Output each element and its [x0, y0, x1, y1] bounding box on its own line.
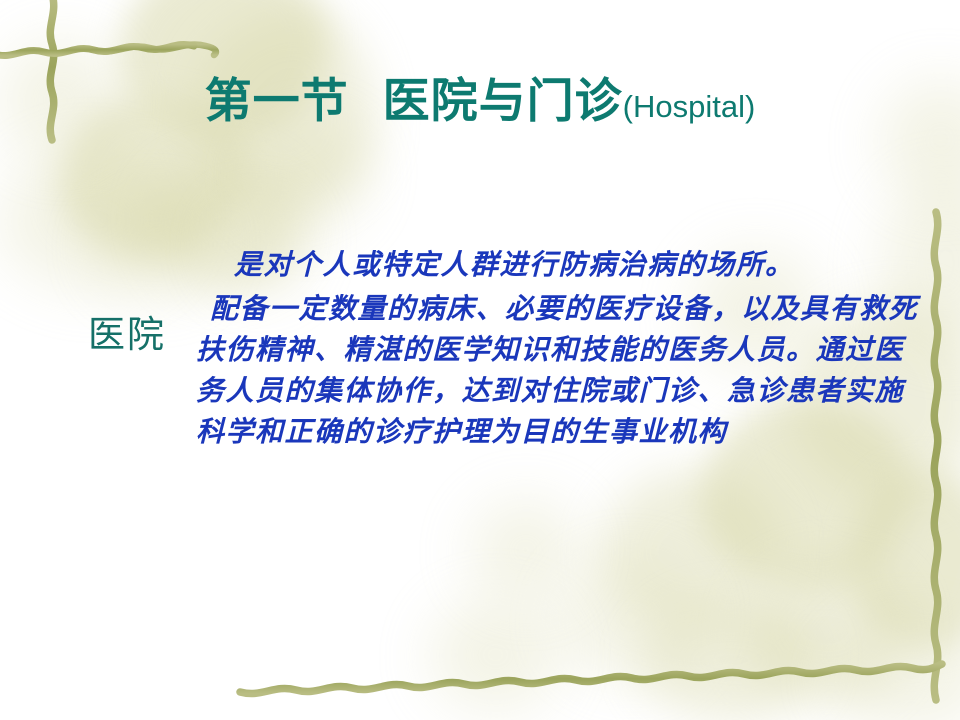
foliage-blob: [430, 600, 560, 710]
title-english-label: (Hospital): [623, 89, 756, 124]
bamboo-horizontal-topright-icon: [94, 44, 216, 55]
foliage-blob: [850, 470, 960, 650]
title-main-label: 医院与门诊: [383, 74, 623, 129]
slide-title: 第一节医院与门诊(Hospital): [0, 62, 960, 131]
bamboo-horizontal-topleft-icon: [0, 44, 194, 55]
foliage-blob: [246, 120, 366, 230]
body-definition-paragraph: 配备一定数量的病床、必要的医疗设备，以及具有救死扶伤精神、精湛的医学知识和技能的…: [196, 288, 926, 452]
foliage-blob: [600, 470, 780, 630]
foliage-blob: [470, 500, 580, 600]
foliage-blob: [740, 560, 910, 700]
body-lead-sentence: 是对个人或特定人群进行防病治病的场所。: [196, 244, 926, 285]
foliage-blob: [0, 150, 180, 290]
title-section-label: 第一节: [205, 74, 349, 129]
foliage-blob: [830, 620, 960, 720]
foliage-blob: [560, 560, 700, 680]
bamboo-horizontal-bottom-icon: [240, 664, 942, 694]
bamboo-vertical-right-icon: [934, 212, 937, 700]
slide-canvas: 第一节医院与门诊(Hospital) 医院 是对个人或特定人群进行防病治病的场所…: [0, 0, 960, 720]
foliage-blob: [640, 600, 820, 720]
term-label: 医院: [88, 316, 166, 353]
body-text-block: 是对个人或特定人群进行防病治病的场所。 配备一定数量的病床、必要的医疗设备，以及…: [196, 244, 926, 452]
